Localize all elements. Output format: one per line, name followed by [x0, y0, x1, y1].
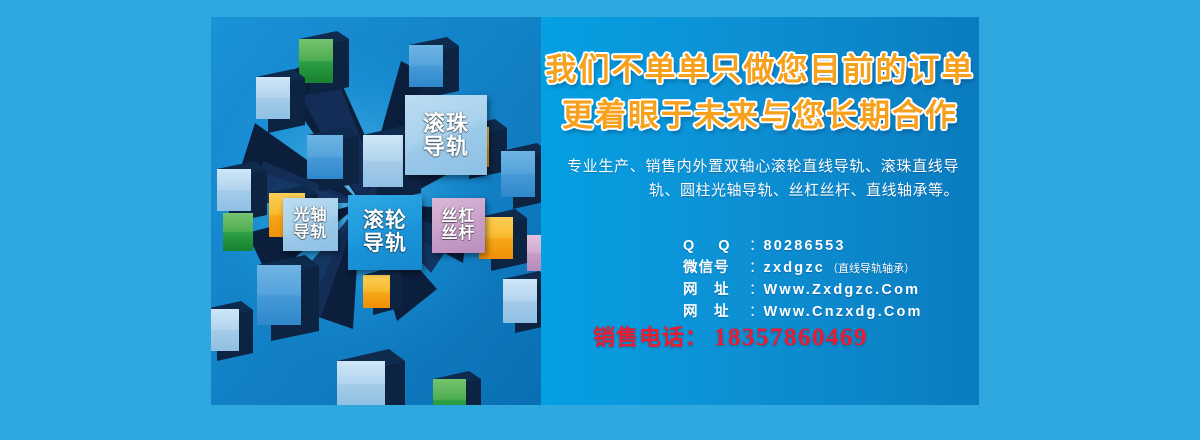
- chip-line-1: 滚轮: [363, 210, 407, 232]
- contact-separator: ：: [749, 278, 764, 299]
- contact-label: 微信号: [683, 256, 749, 277]
- sales-phone-label: 销售电话：: [593, 320, 708, 352]
- contact-label: Q Q: [683, 238, 749, 254]
- contact-row-website-2[interactable]: 网 址 ： Www.Cnzxdg.Com: [683, 300, 979, 322]
- chip-line-1: 滚珠: [423, 112, 469, 135]
- headline-line-1: 我们不单单只做您目前的订单: [541, 50, 979, 90]
- product-chip-lead-screw: 丝杠 丝杆: [432, 198, 485, 253]
- product-chip-ball-guide: 滚珠 导轨: [405, 95, 487, 175]
- chip-line-2: 导轨: [423, 135, 469, 158]
- headline-line-2: 更着眼于未来与您长期合作: [541, 96, 979, 136]
- contact-note: （直线导轨轴承）: [827, 260, 915, 276]
- contact-value[interactable]: Www.Zxdgzc.Com: [764, 282, 921, 298]
- contact-row-website-1[interactable]: 网 址 ： Www.Zxdgzc.Com: [683, 278, 979, 300]
- contact-label: 网 址: [683, 278, 749, 299]
- contact-row-wechat: 微信号 ： zxdgzc （直线导轨轴承）: [683, 256, 979, 278]
- chip-line-2: 导轨: [293, 225, 327, 242]
- contact-value: 80286553: [764, 238, 846, 254]
- contact-separator: ：: [749, 256, 764, 277]
- contact-label: 网 址: [683, 300, 749, 321]
- chip-line-2: 丝杆: [441, 226, 475, 243]
- contact-row-qq: Q Q ： 80286553: [683, 234, 979, 256]
- sales-phone-number[interactable]: 18357860469: [714, 324, 868, 352]
- banner-copy-column: 我们不单单只做您目前的订单 更着眼于未来与您长期合作 专业生产、销售内外置双轴心…: [541, 17, 979, 405]
- sales-phone-block: 销售电话： 18357860469: [593, 320, 979, 352]
- chip-line-1: 光轴: [293, 208, 327, 225]
- chip-line-1: 丝杠: [441, 209, 475, 226]
- description-text: 专业生产、销售内外置双轴心滚轮直线导轨、滚珠直线导轨、圆柱光轴导轨、丝杠丝杆、直…: [567, 155, 959, 204]
- contact-separator: ：: [749, 234, 764, 255]
- product-chip-optical-shaft-guide: 光轴 导轨: [283, 198, 338, 251]
- promo-banner-card: 滚珠 导轨 光轴 导轨 滚轮 导轨 丝杠 丝杆 我们不单单只做您目前的订单 更着…: [211, 17, 979, 405]
- banner-stage: 滚珠 导轨 光轴 导轨 滚轮 导轨 丝杠 丝杆 我们不单单只做您目前的订单 更着…: [0, 0, 1200, 440]
- contact-separator: ：: [749, 300, 764, 321]
- contact-value[interactable]: Www.Cnzxdg.Com: [764, 304, 923, 320]
- product-chip-roller-guide: 滚轮 导轨: [348, 195, 422, 270]
- contact-info-block: Q Q ： 80286553 微信号 ： zxdgzc （直线导轨轴承） 网 址…: [683, 234, 979, 322]
- chip-line-2: 导轨: [363, 233, 407, 255]
- contact-value: zxdgzc: [764, 260, 826, 276]
